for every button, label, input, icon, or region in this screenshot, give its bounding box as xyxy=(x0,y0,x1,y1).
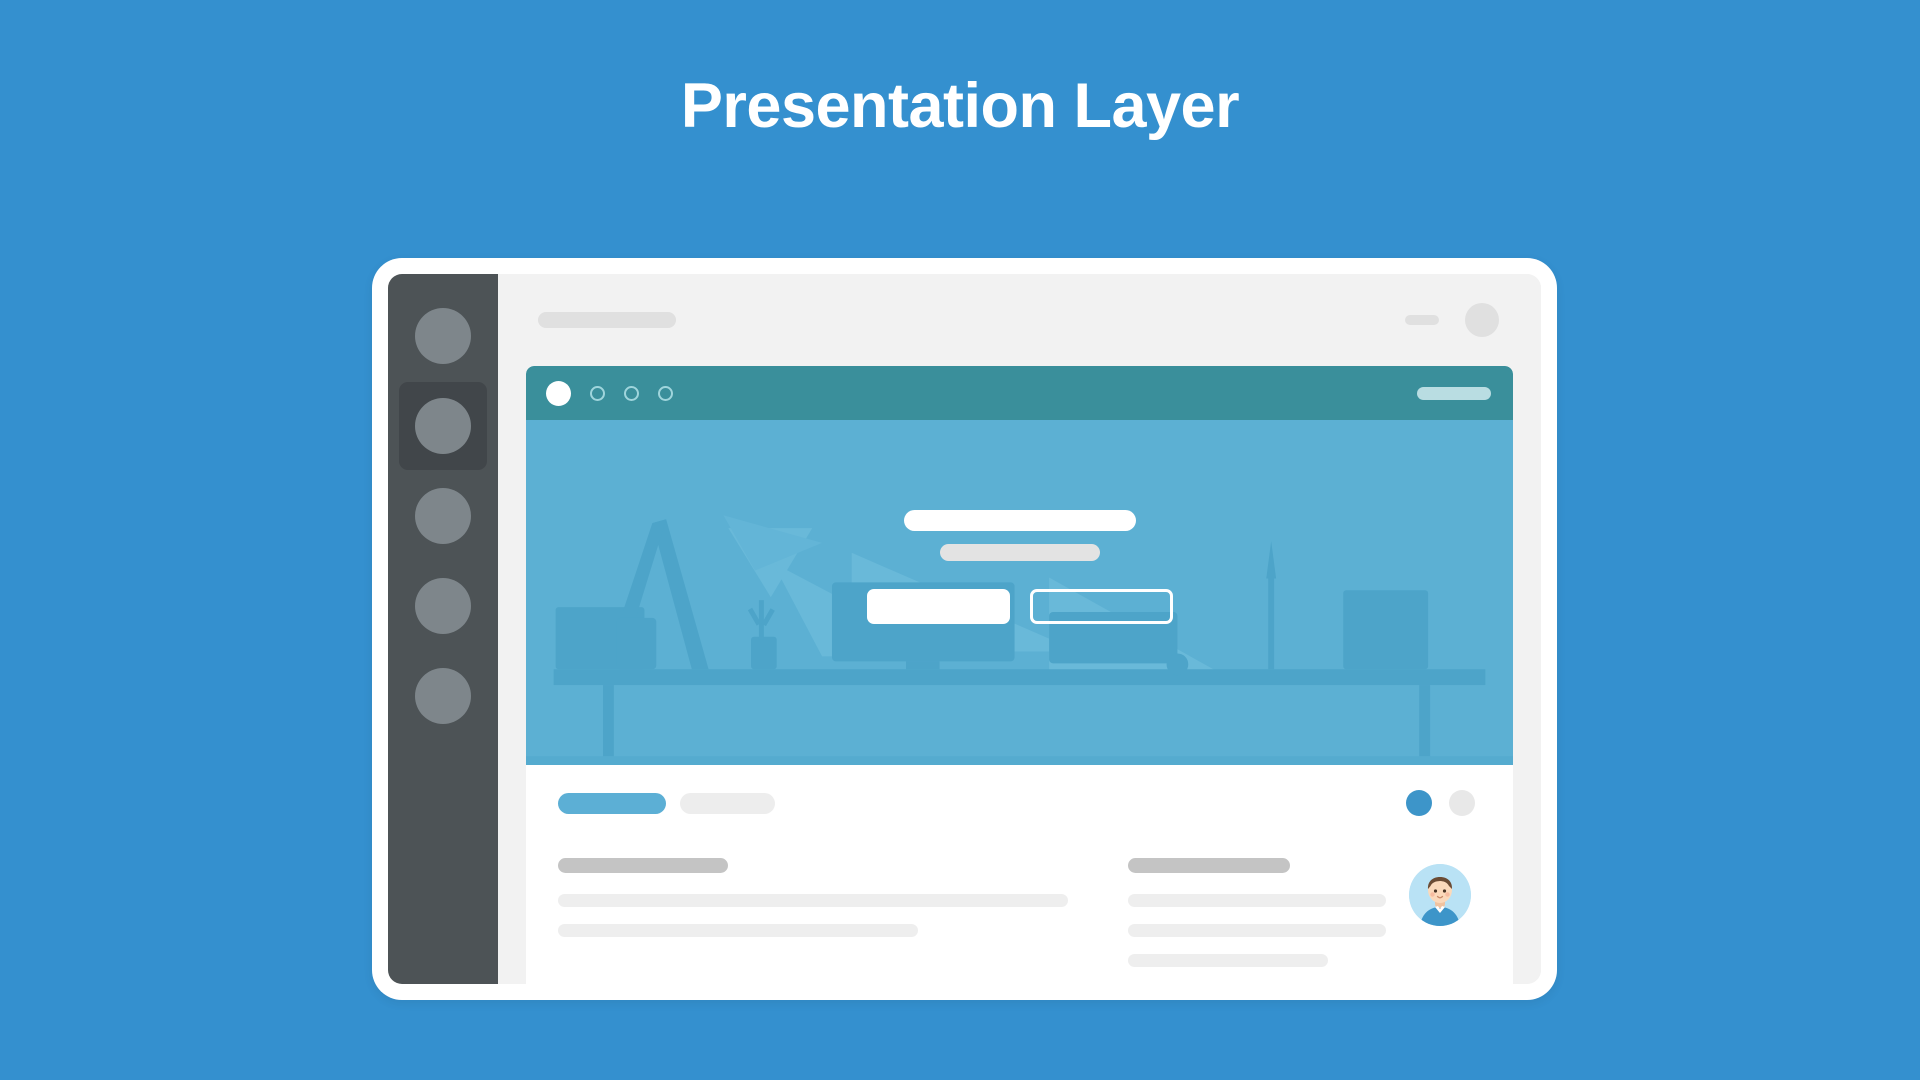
browser-dot-active[interactable] xyxy=(546,381,571,406)
hero-subhead-placeholder xyxy=(940,544,1100,561)
hero-cta-primary-button[interactable] xyxy=(867,589,1010,624)
hero-content xyxy=(526,420,1513,765)
tab-overview[interactable] xyxy=(558,793,666,814)
browser-dot-2[interactable] xyxy=(590,386,605,401)
hero-headline-placeholder xyxy=(904,510,1136,531)
circle-icon xyxy=(415,398,471,454)
content-section xyxy=(526,765,1513,984)
column-line-placeholder xyxy=(558,894,1068,907)
carousel-dots xyxy=(1406,790,1475,816)
column-heading-placeholder xyxy=(1128,858,1290,873)
browser-dot-3[interactable] xyxy=(624,386,639,401)
browser-dot-4[interactable] xyxy=(658,386,673,401)
url-bar-placeholder[interactable] xyxy=(1417,387,1491,400)
app-main xyxy=(498,274,1541,984)
column-line-placeholder xyxy=(1128,894,1386,907)
carousel-dot-1[interactable] xyxy=(1406,790,1432,816)
tab-details[interactable] xyxy=(680,793,775,814)
sidebar-item-1[interactable] xyxy=(399,292,487,380)
menu-dash-icon[interactable] xyxy=(1405,315,1439,325)
column-line-placeholder xyxy=(1128,954,1328,967)
carousel-dot-2[interactable] xyxy=(1449,790,1475,816)
circle-icon xyxy=(415,578,471,634)
content-columns xyxy=(558,858,1475,984)
browser-traffic-lights xyxy=(546,381,673,406)
avatar-circle-icon[interactable] xyxy=(1465,303,1499,337)
column-heading-placeholder xyxy=(558,858,728,873)
circle-icon xyxy=(415,488,471,544)
app-sidebar xyxy=(388,274,498,984)
column-line-placeholder xyxy=(558,924,918,937)
hero-banner xyxy=(526,420,1513,765)
column-line-placeholder xyxy=(1128,924,1386,937)
sidebar-item-4[interactable] xyxy=(399,562,487,650)
content-column-left xyxy=(558,858,1068,984)
person-avatar-icon xyxy=(1409,864,1471,926)
content-toolbar xyxy=(558,790,1475,816)
device-screen xyxy=(388,274,1541,984)
hero-cta-row xyxy=(867,589,1173,624)
hero-cta-secondary-button[interactable] xyxy=(1030,589,1173,624)
device-frame xyxy=(372,258,1557,1000)
sidebar-item-3[interactable] xyxy=(399,472,487,560)
circle-icon xyxy=(415,668,471,724)
browser-chrome-bar xyxy=(526,366,1513,420)
app-header xyxy=(498,274,1541,366)
app-logo-placeholder xyxy=(538,312,676,328)
support-agent-avatar[interactable] xyxy=(1409,864,1471,926)
sidebar-item-5[interactable] xyxy=(399,652,487,740)
browser-window xyxy=(526,366,1513,984)
sidebar-item-2[interactable] xyxy=(399,382,487,470)
circle-icon xyxy=(415,308,471,364)
page-title: Presentation Layer xyxy=(0,72,1920,141)
